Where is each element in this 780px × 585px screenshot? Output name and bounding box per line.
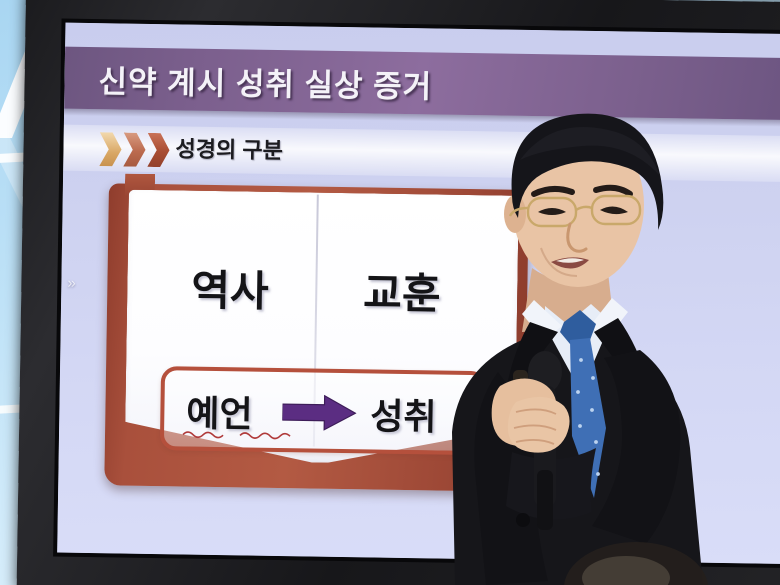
presentation-slide: 신약 계시 성취 실상 증거 성경의 구분 » — [57, 23, 780, 565]
slide-subtitle: 성경의 구분 — [175, 132, 283, 168]
screenshot-stage: 신약 계시 성취 실상 증거 성경의 구분 » — [0, 0, 780, 585]
subtitle-chevron-group — [99, 131, 170, 168]
right-arrow-icon — [282, 394, 357, 431]
open-book-diagram: 역사 교훈 예언 성취 — [104, 183, 529, 492]
chevron-right-icon-2 — [123, 133, 146, 167]
chevron-right-icon-1 — [99, 132, 122, 166]
fulfillment-label: 성취 — [370, 387, 437, 440]
double-chevron-right-icon[interactable]: » — [67, 275, 74, 292]
slide-title-bar: 신약 계시 성취 실상 증거 — [64, 47, 780, 121]
book-left-page-label: 역사 — [191, 257, 269, 319]
slide-subtitle-band — [63, 125, 780, 183]
display-panel: 신약 계시 성취 실상 증거 성경의 구분 » — [57, 23, 780, 565]
wall-display: 신약 계시 성취 실상 증거 성경의 구분 » — [17, 0, 780, 585]
book-right-page-label: 교훈 — [363, 259, 441, 321]
prophecy-fulfillment-box: 예언 성취 — [160, 366, 487, 455]
squiggly-underline-icon — [182, 429, 298, 441]
slide-title: 신약 계시 성취 실상 증거 — [98, 56, 432, 106]
chevron-right-icon-3 — [147, 133, 170, 167]
